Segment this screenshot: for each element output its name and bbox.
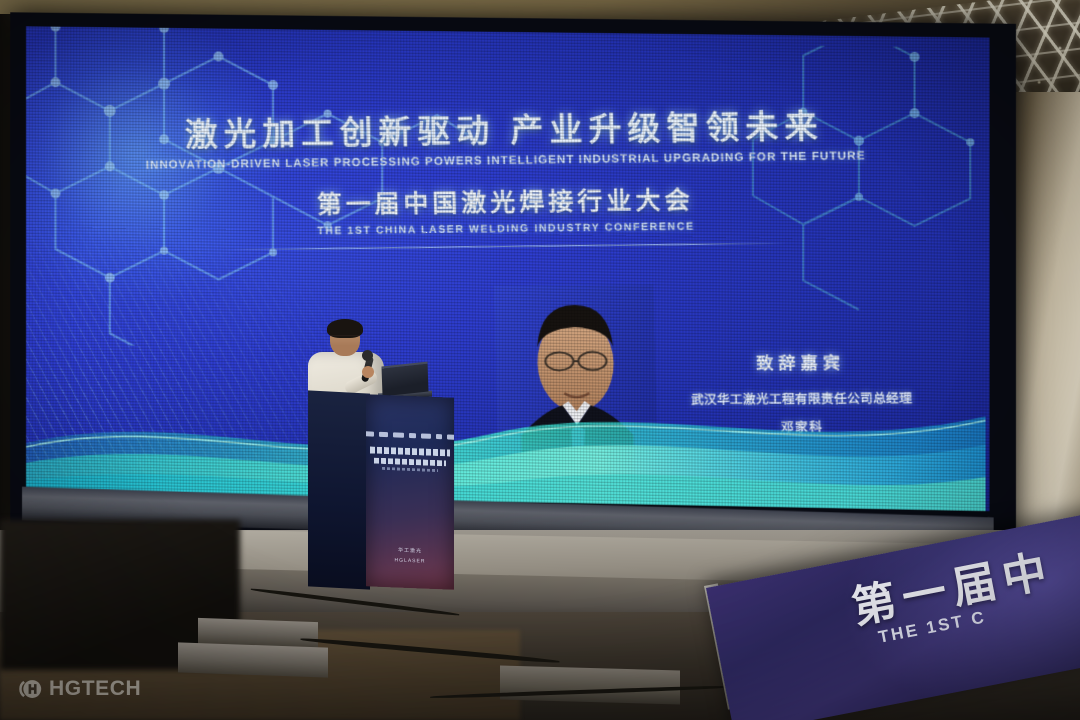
- podium-headline-cn: [370, 446, 450, 456]
- podium: 华工激光 HGLASER: [308, 392, 458, 592]
- podium-footer: 华工激光 HGLASER: [366, 545, 454, 567]
- podium-sponsor-logos: [372, 431, 448, 441]
- watermark: HGTECH: [16, 676, 141, 702]
- podium-banner-panel: 华工激光 HGLASER: [366, 394, 454, 589]
- watermark-brand: HGTECH: [49, 677, 141, 701]
- presenter-hand: [362, 366, 374, 378]
- led-screen: 激光加工创新驱动 产业升级智领未来 INNOVATION-DRIVEN LASE…: [26, 26, 990, 511]
- hgtech-circle-logo-icon: [16, 676, 42, 702]
- laptop-icon: [381, 362, 428, 397]
- podium-subtitle-cn: [374, 458, 446, 467]
- hexagon-network-graphic-right-icon: [743, 45, 990, 350]
- led-screen-frame: 激光加工创新驱动 产业升级智领未来 INNOVATION-DRIVEN LASE…: [10, 12, 1016, 548]
- stage-step: [500, 665, 680, 704]
- presenter-glasses: [331, 335, 359, 340]
- wave-graphic: [26, 348, 986, 512]
- stage-step: [178, 642, 328, 677]
- podium-subtitle-en: [382, 467, 438, 472]
- conference-photo-scene: 激光加工创新驱动 产业升级智领未来 INNOVATION-DRIVEN LASE…: [0, 0, 1080, 720]
- podium-body: [308, 390, 370, 589]
- podium-footer-sub: HGLASER: [366, 555, 454, 568]
- microphone-head-icon: [362, 350, 373, 361]
